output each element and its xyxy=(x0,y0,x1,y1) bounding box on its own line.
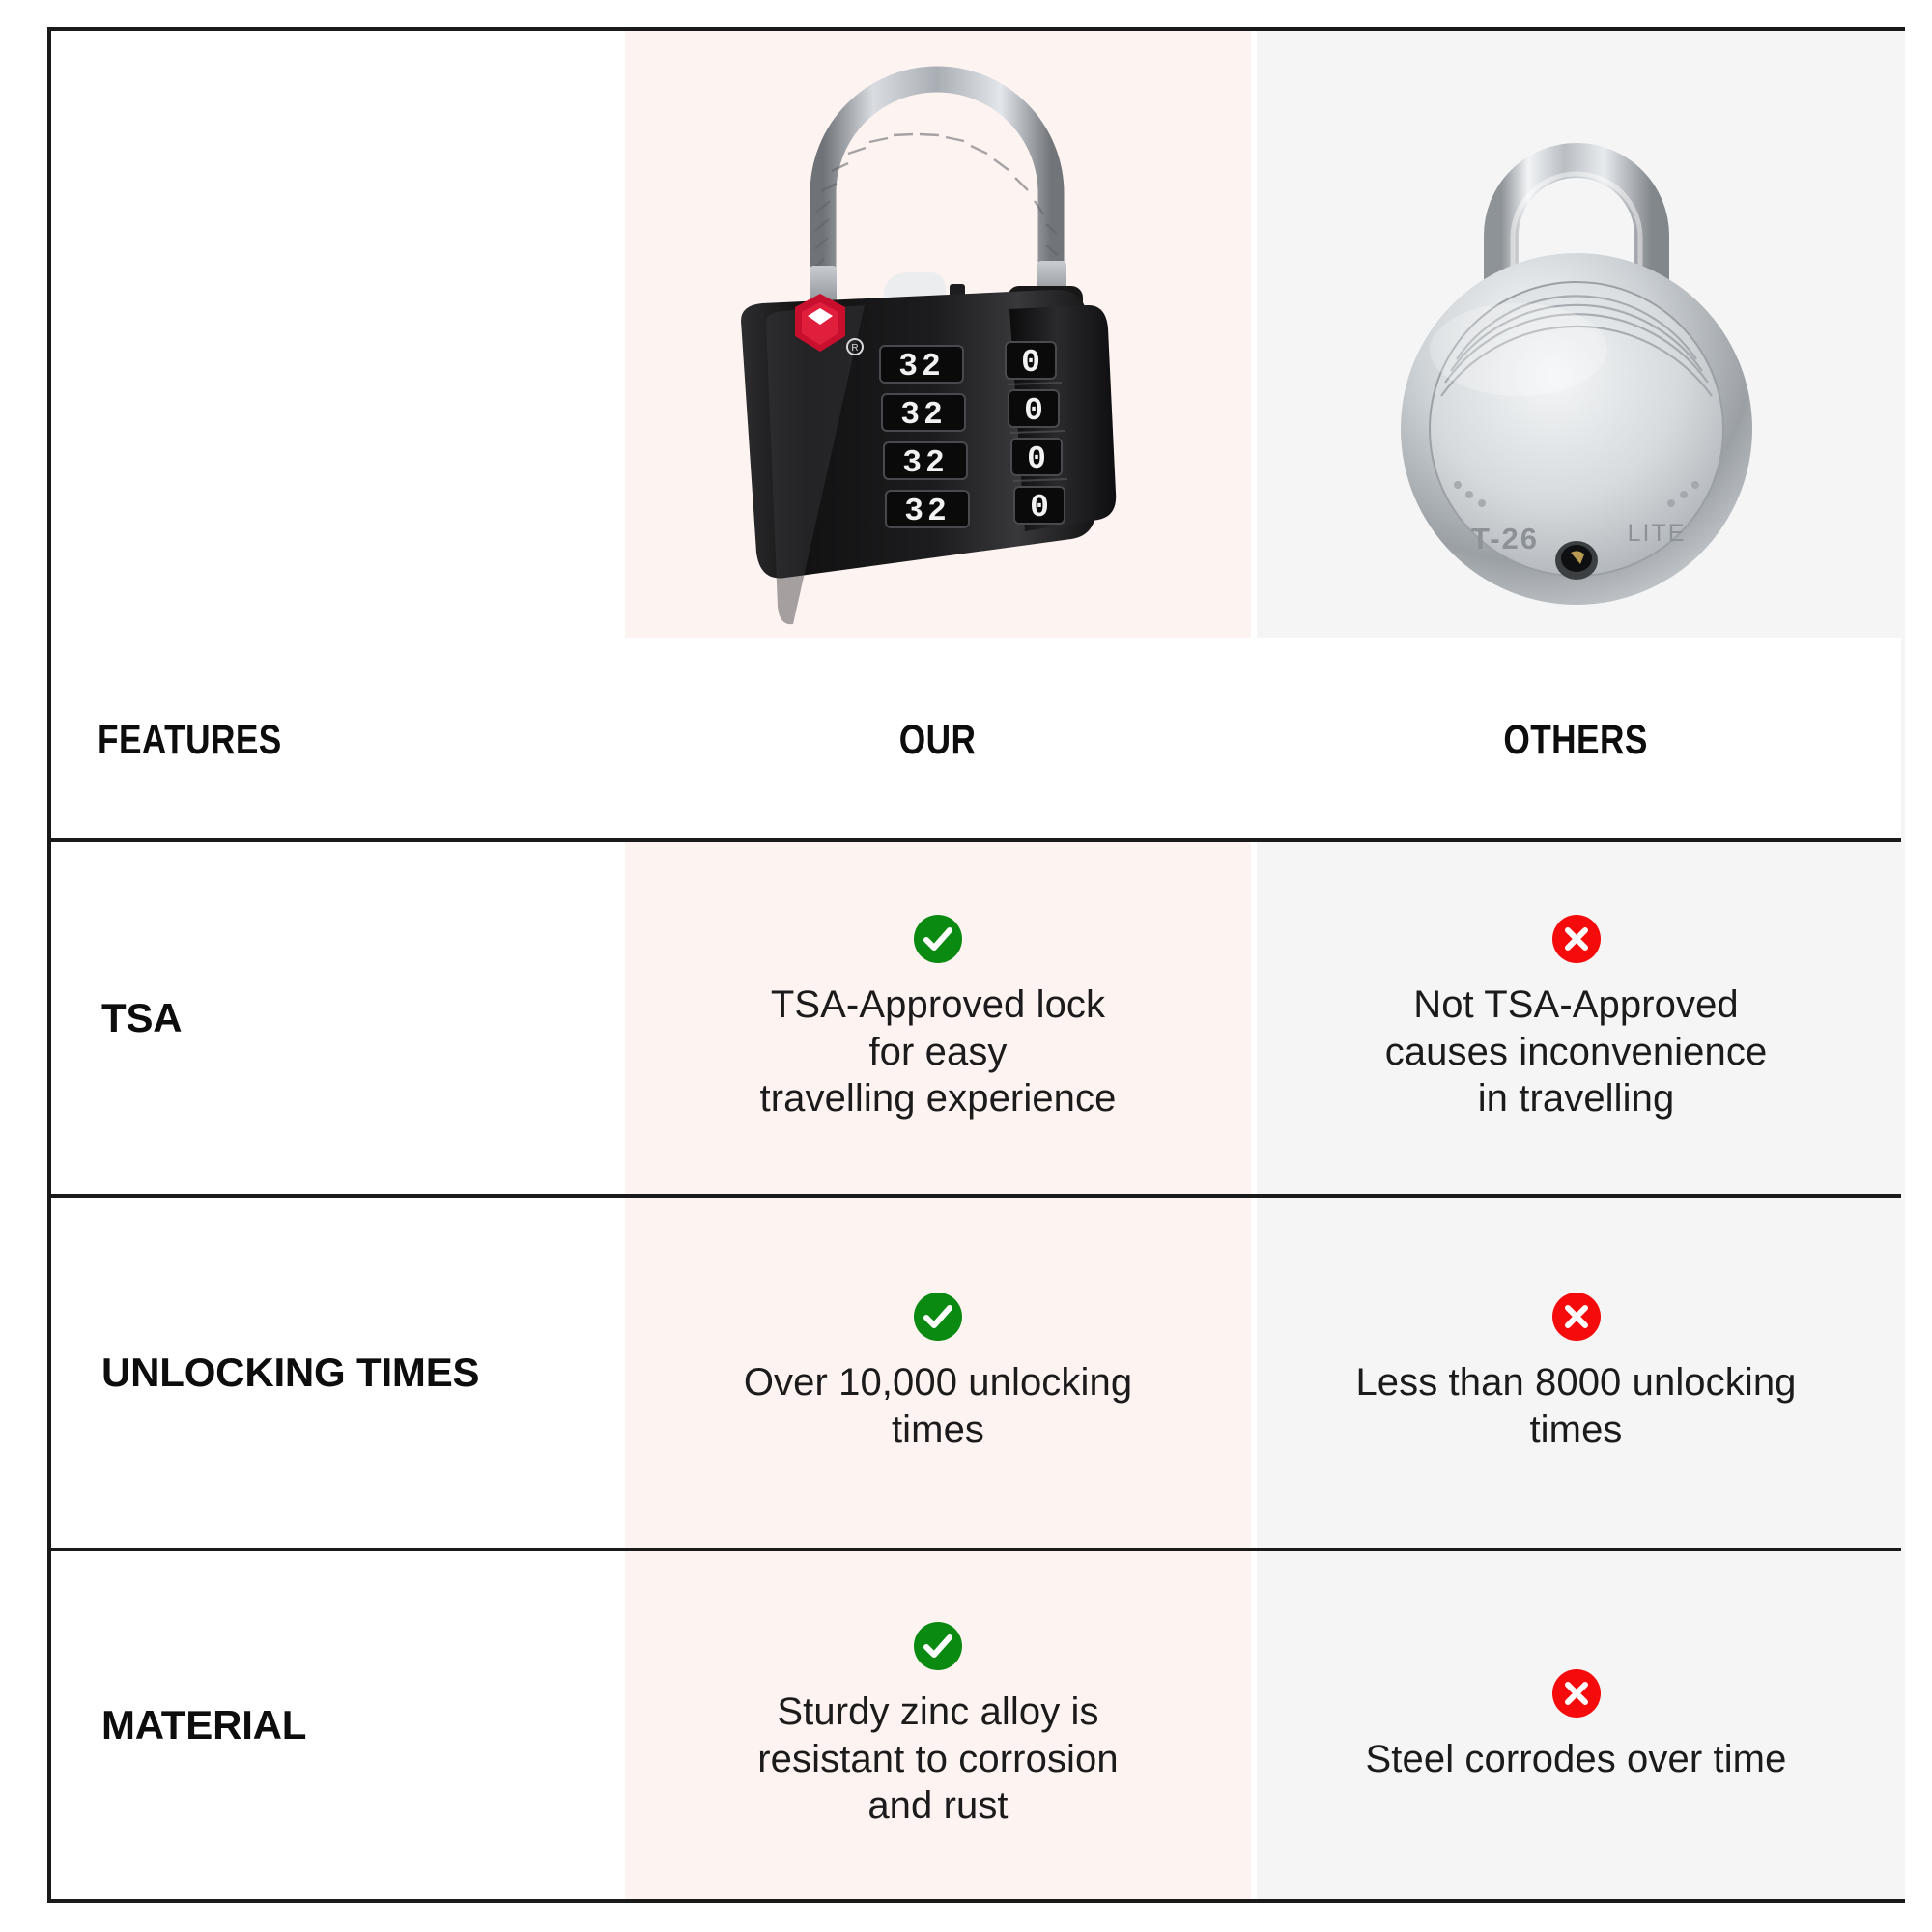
table-row-material: MATERIAL Sturdy zinc alloy is resistant … xyxy=(51,1551,1901,1899)
column-header-others: OTHERS xyxy=(1504,717,1648,764)
cell-others-unlocking-times: Less than 8000 unlocking times xyxy=(1251,1198,1901,1548)
column-header-our: OUR xyxy=(899,717,977,764)
our-product-image-cell: R 32 0 32 0 xyxy=(625,31,1251,641)
padlock-brand-engraving: LITE xyxy=(1628,520,1687,547)
column-header-row: FEATURES OUR OTHERS xyxy=(51,641,1901,838)
cross-circle-icon xyxy=(1551,1292,1602,1342)
svg-text:0: 0 xyxy=(1024,393,1043,429)
header-cell-features: FEATURES xyxy=(51,641,625,838)
cell-text-others-material: Steel corrodes over time xyxy=(1339,1736,1814,1783)
header-cell-our: OUR xyxy=(625,641,1251,838)
cell-our-unlocking-times: Over 10,000 unlocking times xyxy=(625,1198,1251,1548)
padlock-model-engraving: T-26 xyxy=(1471,522,1539,555)
image-row-empty-cell xyxy=(51,31,625,641)
svg-text:0: 0 xyxy=(1021,345,1040,381)
cell-text-others-unlocking-times: Less than 8000 unlocking times xyxy=(1328,1359,1823,1454)
comparison-table: R 32 0 32 0 xyxy=(47,27,1905,1903)
check-circle-icon xyxy=(913,1621,963,1671)
svg-text:32: 32 xyxy=(904,494,951,529)
svg-text:32: 32 xyxy=(900,397,947,433)
round-padlock-image: T-26 LITE xyxy=(1251,31,1901,641)
header-cell-others: OTHERS xyxy=(1251,641,1901,838)
row-label-unlocking-times: UNLOCKING TIMES xyxy=(101,1350,479,1396)
row-label-tsa: TSA xyxy=(101,995,182,1041)
others-product-image-cell: T-26 LITE xyxy=(1251,31,1901,641)
row-label-unlocking-times-cell: UNLOCKING TIMES xyxy=(51,1198,625,1548)
cell-text-our-unlocking-times: Over 10,000 unlocking times xyxy=(717,1359,1159,1454)
cell-others-tsa: Not TSA-Approved causes inconvenience in… xyxy=(1251,842,1901,1194)
svg-text:0: 0 xyxy=(1027,441,1046,477)
table-row-unlocking-times: UNLOCKING TIMES Over 10,000 unlocking ti… xyxy=(51,1198,1901,1548)
row-label-material-cell: MATERIAL xyxy=(51,1551,625,1899)
svg-text:32: 32 xyxy=(898,349,945,384)
check-circle-icon xyxy=(913,1292,963,1342)
cell-text-others-tsa: Not TSA-Approved causes inconvenience in… xyxy=(1358,981,1795,1122)
column-header-features: FEATURES xyxy=(98,717,282,764)
cell-text-our-material: Sturdy zinc alloy is resistant to corros… xyxy=(730,1689,1145,1830)
tsa-cable-lock-image: R 32 0 32 0 xyxy=(625,31,1251,641)
cell-our-material: Sturdy zinc alloy is resistant to corros… xyxy=(625,1551,1251,1899)
cell-our-tsa: TSA-Approved lock for easy travelling ex… xyxy=(625,842,1251,1194)
svg-text:32: 32 xyxy=(902,445,949,481)
check-circle-icon xyxy=(913,914,963,964)
cell-text-our-tsa: TSA-Approved lock for easy travelling ex… xyxy=(733,981,1144,1122)
svg-text:R: R xyxy=(851,343,858,354)
row-label-tsa-cell: TSA xyxy=(51,842,625,1194)
product-image-row: R 32 0 32 0 xyxy=(51,31,1901,641)
svg-text:0: 0 xyxy=(1030,490,1049,526)
cross-circle-icon xyxy=(1551,1668,1602,1719)
table-row-tsa: TSA TSA-Approved lock for easy travellin… xyxy=(51,842,1901,1194)
cell-others-material: Steel corrodes over time xyxy=(1251,1551,1901,1899)
cross-circle-icon xyxy=(1551,914,1602,964)
row-label-material: MATERIAL xyxy=(101,1702,306,1748)
